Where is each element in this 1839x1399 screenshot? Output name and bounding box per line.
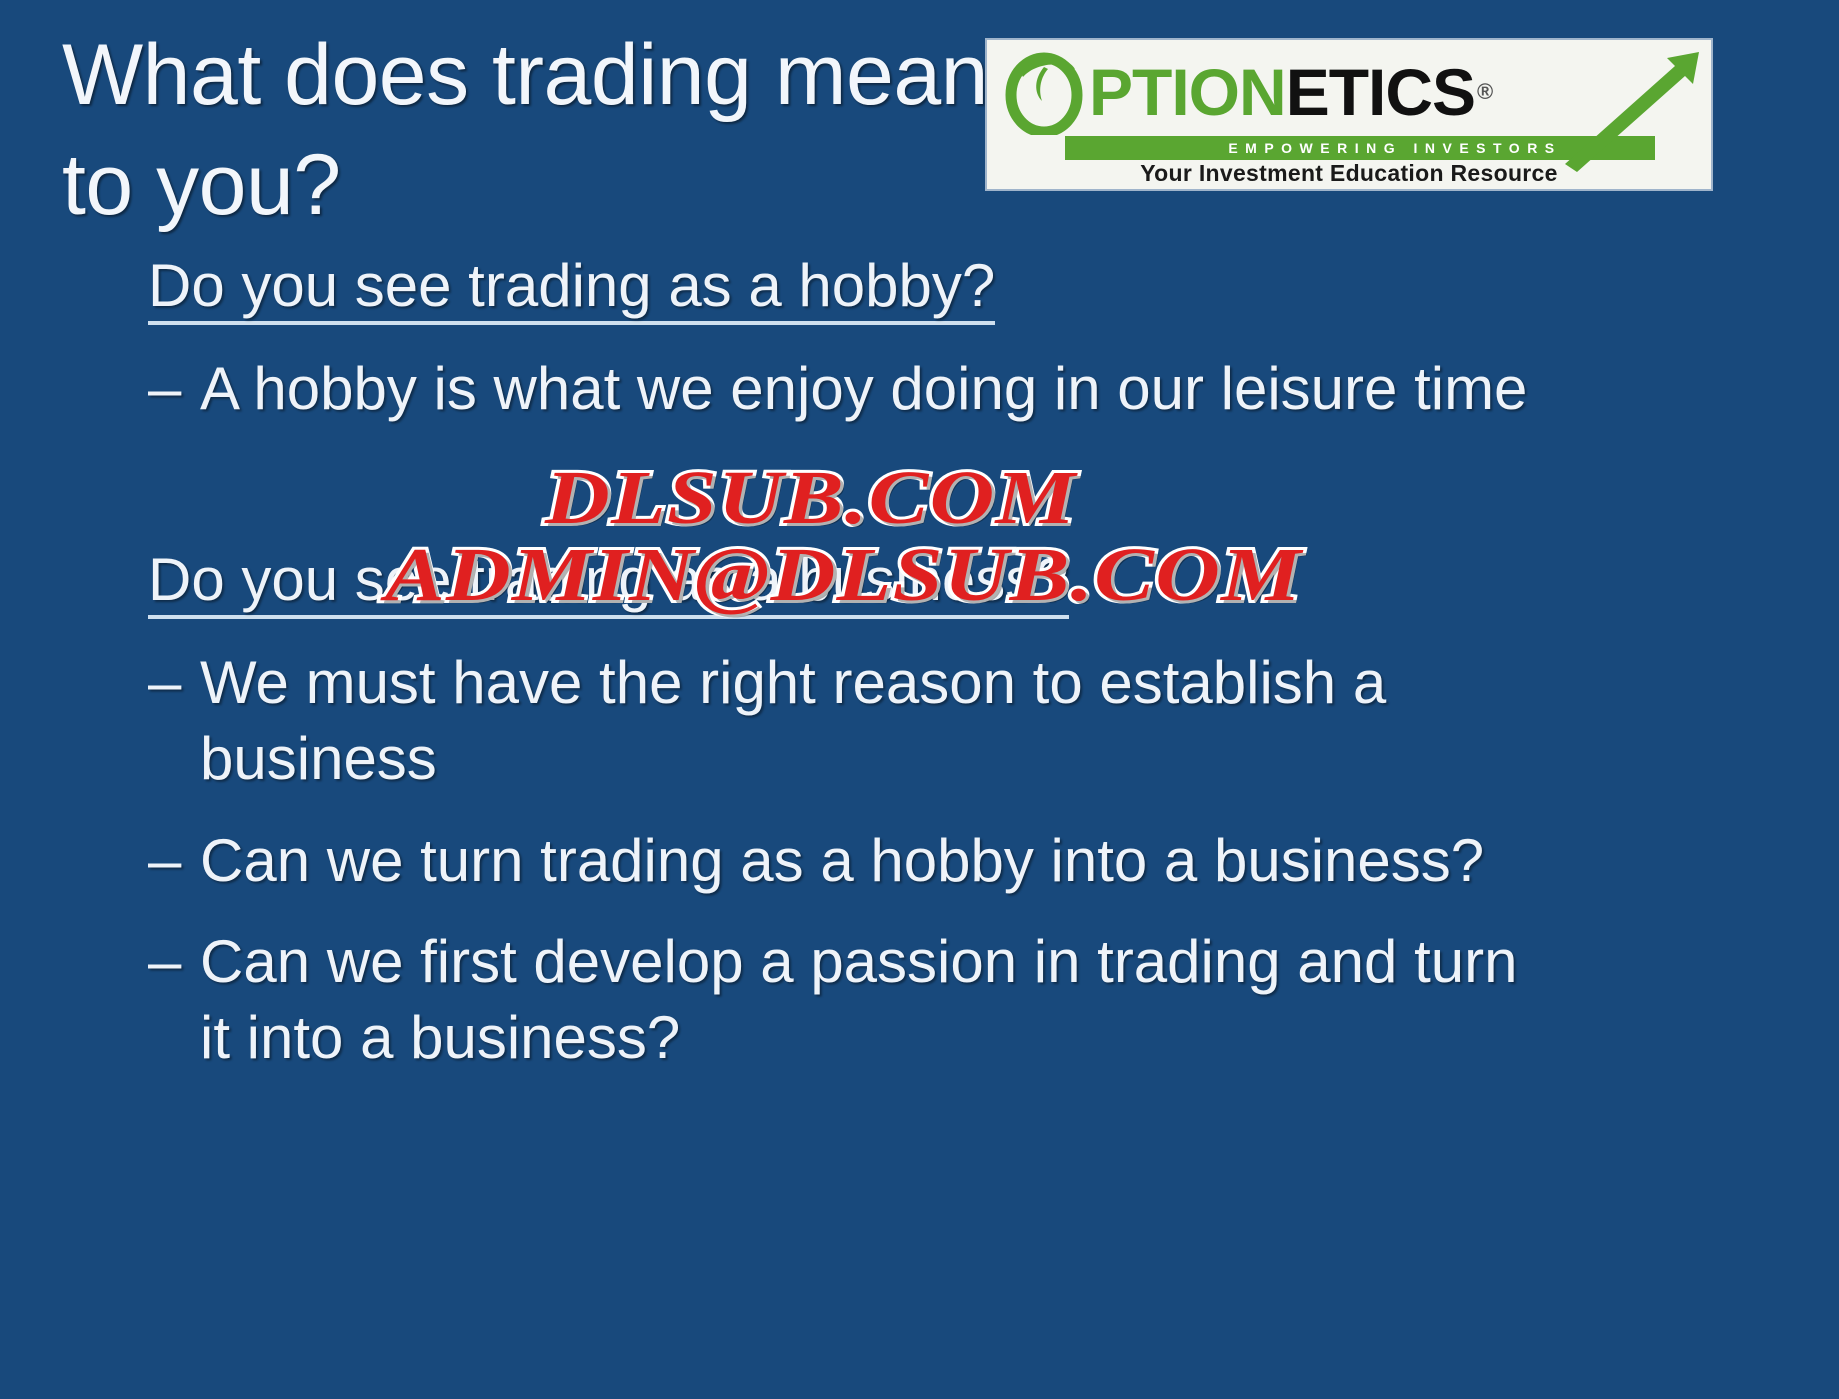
watermark-email: ADMIN@DLSUB.COM bbox=[385, 532, 1302, 619]
bullet-dash-icon: – bbox=[148, 924, 200, 1075]
section-heading-hobby: Do you see trading as a hobby? bbox=[148, 255, 995, 325]
upward-arrow-icon bbox=[1555, 44, 1705, 172]
bullet-dash-icon: – bbox=[148, 645, 200, 796]
list-item: – A hobby is what we enjoy doing in our … bbox=[148, 351, 1528, 427]
bullet-dash-icon: – bbox=[148, 351, 200, 427]
list-item: – We must have the right reason to estab… bbox=[148, 645, 1528, 796]
logo-text-option: PTION bbox=[1089, 49, 1286, 135]
bullet-dash-icon: – bbox=[148, 823, 200, 899]
bullet-text: A hobby is what we enjoy doing in our le… bbox=[200, 351, 1527, 427]
bullet-text: We must have the right reason to establi… bbox=[200, 645, 1528, 796]
list-item: – Can we first develop a passion in trad… bbox=[148, 924, 1528, 1075]
logo-wordmark: PTION ETICS ® bbox=[1001, 50, 1493, 134]
list-item: – Can we turn trading as a hobby into a … bbox=[148, 823, 1528, 899]
section-hobby: Do you see trading as a hobby? bbox=[0, 255, 1839, 325]
watermark-site: DLSUB.COM bbox=[545, 455, 1076, 542]
bullet-text: Can we turn trading as a hobby into a bu… bbox=[200, 823, 1484, 899]
registered-trademark-icon: ® bbox=[1477, 81, 1493, 103]
optionetics-logo: PTION ETICS ® EMPOWERING INVESTORS Your … bbox=[985, 38, 1713, 191]
slide-body: Do you see trading as a hobby? – A hobby… bbox=[0, 255, 1839, 1075]
presentation-slide: What does trading mean to you? PTION ETI… bbox=[0, 0, 1839, 1399]
logo-text-etics: ETICS bbox=[1286, 49, 1475, 135]
bullet-text: Can we first develop a passion in tradin… bbox=[200, 924, 1528, 1075]
logo-o-icon bbox=[1001, 49, 1087, 135]
